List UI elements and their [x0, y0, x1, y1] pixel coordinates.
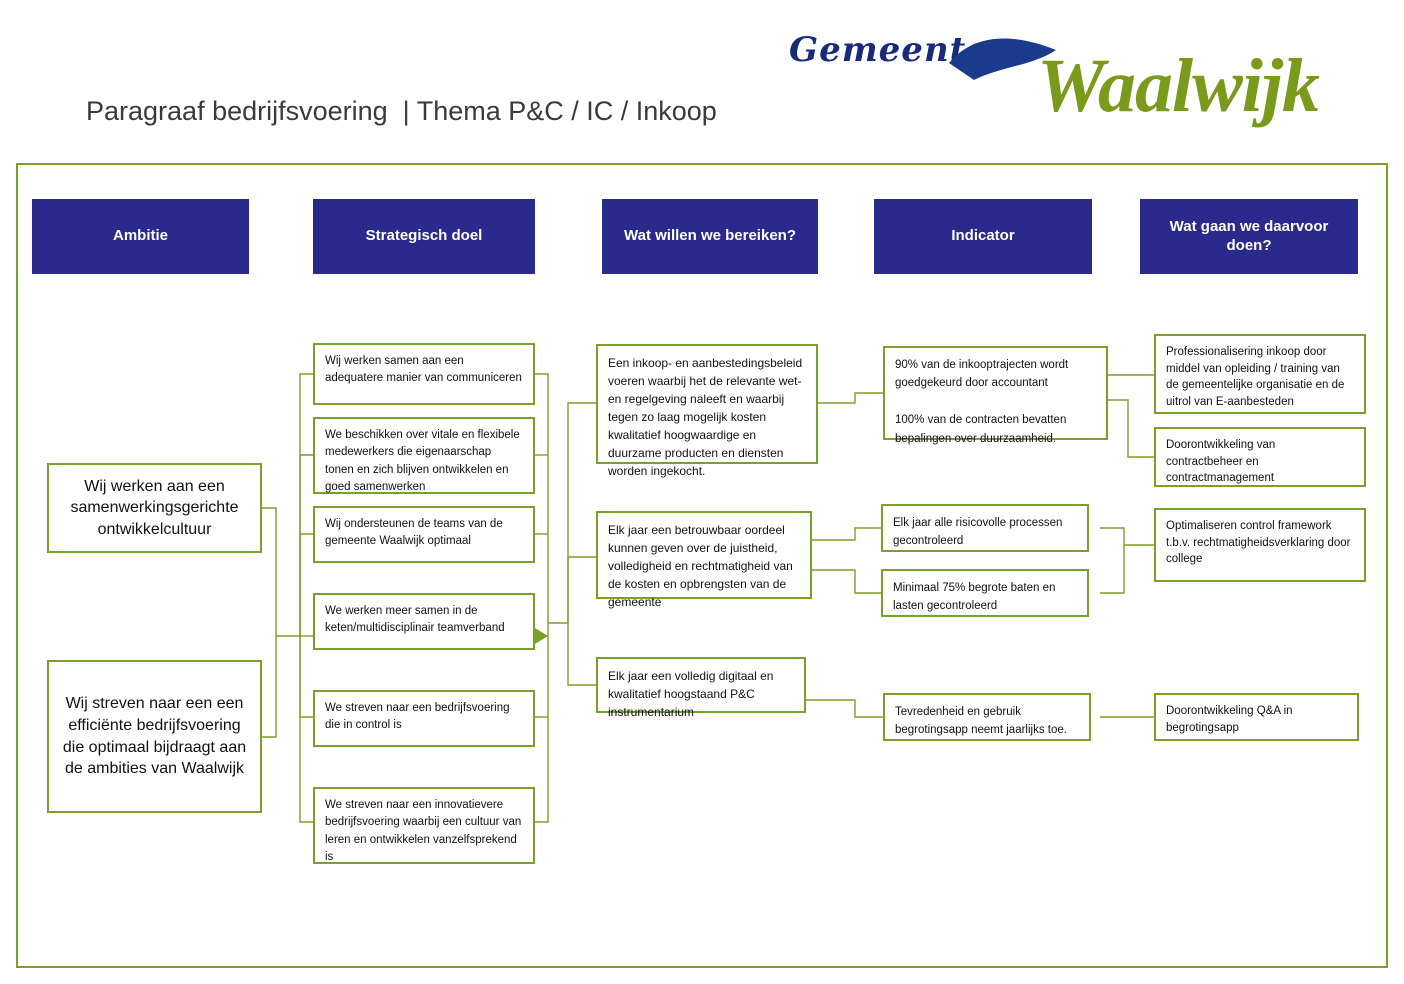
column-header-label: Indicator	[951, 227, 1014, 246]
strategisch-doel-box-6[interactable]: We streven naar een innovatievere bedrij…	[313, 787, 535, 864]
actie-text: Doorontwikkeling Q&A in begrotingsapp	[1166, 705, 1293, 734]
strategisch-doel-text: We streven naar een bedrijfsvoering die …	[325, 702, 510, 731]
bereiken-text: Elk jaar een betrouwbaar oordeel kunnen …	[608, 523, 793, 609]
indicator-box-3[interactable]: Minimaal 75% begrote baten en lasten gec…	[881, 569, 1089, 617]
column-header-label: Ambitie	[113, 227, 168, 246]
strategisch-doel-text: We beschikken over vitale en flexibele m…	[325, 429, 520, 493]
page-title: Paragraaf bedrijfsvoering | Thema P&C / …	[86, 96, 717, 127]
ambitie-box-1[interactable]: Wij werken aan een samenwerkingsgerichte…	[47, 463, 262, 553]
indicator-text: Minimaal 75% begrote baten en lasten gec…	[893, 582, 1055, 612]
actie-box-4[interactable]: Doorontwikkeling Q&A in begrotingsapp	[1154, 693, 1359, 741]
strategisch-doel-text: We werken meer samen in de keten/multidi…	[325, 605, 505, 634]
column-header-wat-willen-we-bereiken: Wat willen we bereiken?	[602, 199, 818, 274]
strategisch-doel-text: We streven naar een innovatievere bedrij…	[325, 799, 521, 863]
actie-text: Professionalisering inkoop door middel v…	[1166, 346, 1344, 408]
column-header-indicator: Indicator	[874, 199, 1092, 274]
actie-box-2[interactable]: Doorontwikkeling van contractbeheer en c…	[1154, 427, 1366, 487]
strategisch-doel-text: Wij werken samen aan een adequatere mani…	[325, 355, 522, 384]
ambitie-text: Wij werken aan een samenwerkingsgerichte…	[59, 476, 250, 541]
ambitie-text: Wij streven naar een een efficiënte bedr…	[59, 693, 250, 779]
indicator-text: 90% van de inkooptrajecten wordt goedgek…	[895, 359, 1068, 445]
column-header-strategisch-doel: Strategisch doel	[313, 199, 535, 274]
column-header-ambitie: Ambitie	[32, 199, 249, 274]
strategisch-doel-box-2[interactable]: We beschikken over vitale en flexibele m…	[313, 417, 535, 494]
strategisch-doel-box-4[interactable]: We werken meer samen in de keten/multidi…	[313, 593, 535, 650]
bereiken-text: Elk jaar een volledig digitaal en kwalit…	[608, 669, 773, 719]
actie-text: Optimaliseren control framework t.b.v. r…	[1166, 520, 1351, 565]
ambitie-box-2[interactable]: Wij streven naar een een efficiënte bedr…	[47, 660, 262, 813]
column-header-label: Wat gaan we daarvoor doen?	[1148, 218, 1350, 256]
indicator-text: Tevredenheid en gebruik begrotingsapp ne…	[895, 706, 1067, 736]
bereiken-box-3[interactable]: Elk jaar een volledig digitaal en kwalit…	[596, 657, 806, 713]
indicator-box-1[interactable]: 90% van de inkooptrajecten wordt goedgek…	[883, 346, 1108, 440]
column-header-wat-gaan-we-daarvoor-doen: Wat gaan we daarvoor doen?	[1140, 199, 1358, 274]
indicator-box-2[interactable]: Elk jaar alle risicovolle processen geco…	[881, 504, 1089, 552]
actie-text: Doorontwikkeling van contractbeheer en c…	[1166, 439, 1275, 484]
waalwijk-logo: Gemeente Waalwijk	[824, 8, 1364, 128]
strategisch-doel-box-5[interactable]: We streven naar een bedrijfsvoering die …	[313, 690, 535, 747]
column-header-label: Strategisch doel	[366, 227, 483, 246]
indicator-text: Elk jaar alle risicovolle processen geco…	[893, 517, 1062, 547]
strategisch-doel-box-1[interactable]: Wij werken samen aan een adequatere mani…	[313, 343, 535, 405]
bereiken-box-2[interactable]: Elk jaar een betrouwbaar oordeel kunnen …	[596, 511, 812, 599]
actie-box-1[interactable]: Professionalisering inkoop door middel v…	[1154, 334, 1366, 414]
indicator-box-4[interactable]: Tevredenheid en gebruik begrotingsapp ne…	[883, 693, 1091, 741]
bereiken-box-1[interactable]: Een inkoop- en aanbestedingsbeleid voere…	[596, 344, 818, 464]
bereiken-text: Een inkoop- en aanbestedingsbeleid voere…	[608, 356, 802, 478]
strategisch-doel-box-3[interactable]: Wij ondersteunen de teams van de gemeent…	[313, 506, 535, 563]
logo-waalwijk-text: Waalwijk	[1037, 48, 1319, 124]
actie-box-3[interactable]: Optimaliseren control framework t.b.v. r…	[1154, 508, 1366, 582]
column-header-label: Wat willen we bereiken?	[624, 227, 796, 246]
strategisch-doel-text: Wij ondersteunen de teams van de gemeent…	[325, 518, 503, 547]
